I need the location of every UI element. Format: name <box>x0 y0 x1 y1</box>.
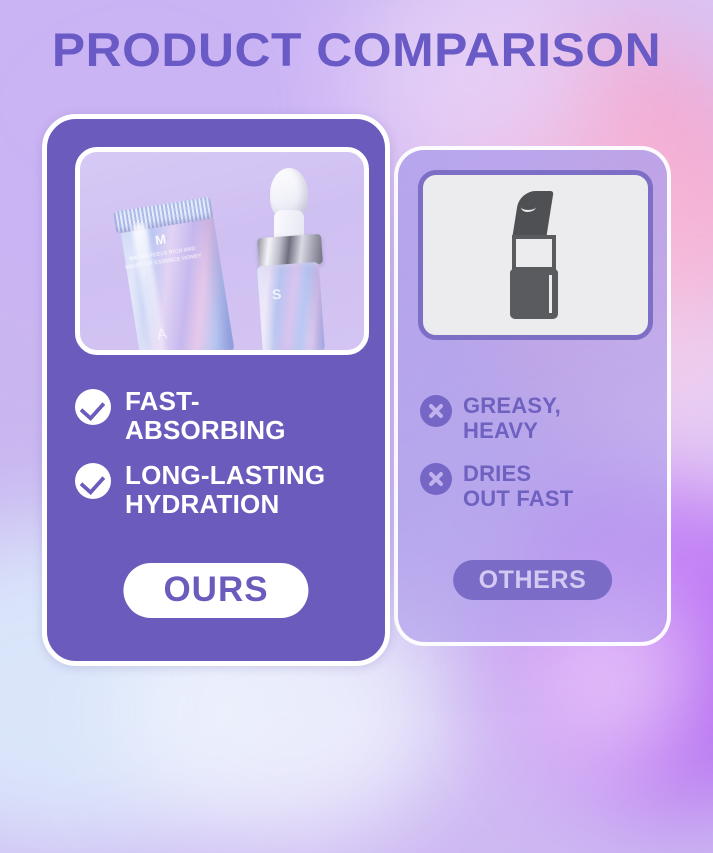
bottle-glass <box>257 262 325 355</box>
lipstick-bullet <box>512 191 553 237</box>
benefit-label: FAST- ABSORBING <box>125 387 286 445</box>
page-title: PRODUCT COMPARISON <box>0 26 713 73</box>
ours-benefit-list: FAST- ABSORBING LONG-LASTING HYDRATION <box>75 387 375 535</box>
list-item: FAST- ABSORBING <box>75 387 375 445</box>
others-card: GREASY, HEAVY DRIES OUT FAST OTHERS <box>394 146 671 646</box>
drawback-label: GREASY, HEAVY <box>463 393 561 443</box>
list-item: LONG-LASTING HYDRATION <box>75 461 375 519</box>
lipstick-ring <box>512 235 556 271</box>
list-item: GREASY, HEAVY <box>420 393 660 443</box>
x-icon <box>420 395 452 427</box>
check-icon <box>75 463 111 499</box>
check-icon <box>75 389 111 425</box>
lipstick-icon <box>510 191 562 319</box>
lipstick-base <box>510 269 558 319</box>
list-item: DRIES OUT FAST <box>420 461 660 511</box>
ours-product-photo: M WATER FEELS RICH AND MOIST LIP ESSENCE… <box>75 147 369 355</box>
serum-dropper-product: S <box>246 166 336 355</box>
others-product-image-panel <box>418 170 653 340</box>
others-badge: OTHERS <box>453 560 613 600</box>
lip-tube-product: M WATER FEELS RICH AND MOIST LIP ESSENCE… <box>112 188 217 355</box>
drawback-label: DRIES OUT FAST <box>463 461 573 511</box>
ours-badge: OURS <box>123 563 308 618</box>
x-icon <box>420 463 452 495</box>
ours-card: M WATER FEELS RICH AND MOIST LIP ESSENCE… <box>42 114 390 666</box>
benefit-label: LONG-LASTING HYDRATION <box>125 461 325 519</box>
bottle-mark: S <box>271 286 282 303</box>
others-drawback-list: GREASY, HEAVY DRIES OUT FAST <box>420 393 660 529</box>
